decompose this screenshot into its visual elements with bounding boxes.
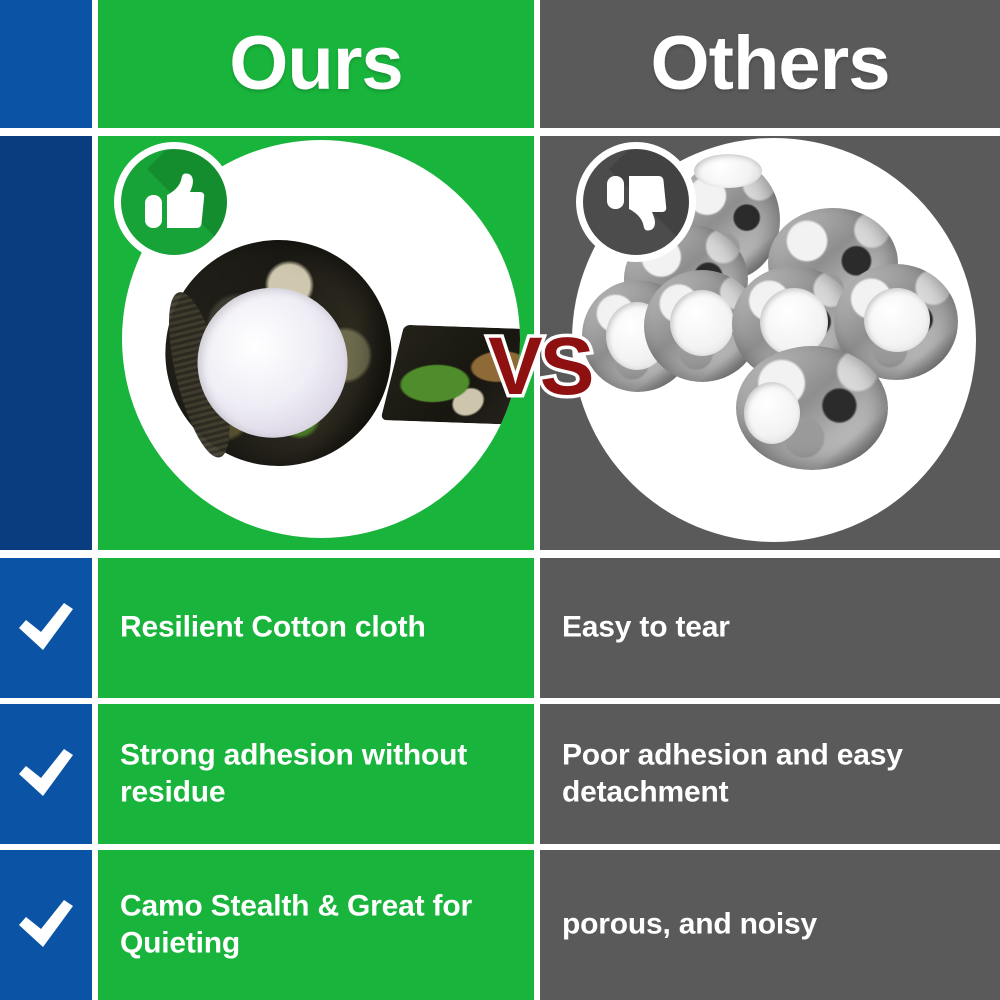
header-corner-blue-block — [0, 0, 92, 128]
feature-cell-others-1: Easy to tear — [540, 558, 1000, 698]
comparison-infographic: Ours Others — [0, 0, 1000, 1000]
check-icon-wrap — [0, 704, 92, 844]
feature-text-ours-2: Strong adhesion without residue — [120, 737, 516, 810]
roll-hole — [744, 382, 800, 444]
feature-cell-ours-2: Strong adhesion without residue — [98, 704, 534, 844]
check-icon-wrap — [0, 850, 92, 1000]
photo-cell-ours — [98, 136, 534, 550]
roll-hole — [864, 288, 930, 352]
thumbs-down-badge — [576, 142, 696, 262]
feature-cell-ours-3: Camo Stealth & Great for Quieting — [98, 850, 534, 1000]
thumbs-down-icon — [605, 173, 667, 231]
header-cell-others: Others — [540, 0, 1000, 128]
thumbs-up-icon — [143, 173, 205, 231]
feature-text-others-2: Poor adhesion and easy detachment — [562, 737, 982, 810]
photo-row-blue-block — [0, 136, 92, 550]
check-cell-row-2 — [0, 704, 92, 844]
check-icon — [16, 747, 76, 801]
feature-cell-ours-1: Resilient Cotton cloth — [98, 558, 534, 698]
header-cell-ours: Ours — [98, 0, 534, 128]
ours-title: Ours — [98, 0, 534, 128]
feature-text-ours-3: Camo Stealth & Great for Quieting — [120, 888, 516, 961]
feature-text-others-3: porous, and noisy — [562, 907, 982, 944]
check-cell-row-3 — [0, 850, 92, 1000]
feature-cell-others-2: Poor adhesion and easy detachment — [540, 704, 1000, 844]
bandage-roll-front — [736, 346, 888, 470]
check-icon — [16, 898, 76, 952]
thumbs-up-badge — [114, 142, 234, 262]
check-cell-row-1 — [0, 558, 92, 698]
roll-hole — [670, 290, 734, 356]
photo-cell-others — [540, 136, 1000, 550]
roll-hole — [694, 154, 762, 188]
vs-label: VS — [488, 326, 591, 408]
others-title: Others — [540, 0, 1000, 128]
feature-cell-others-3: porous, and noisy — [540, 850, 1000, 1000]
feature-text-others-1: Easy to tear — [562, 610, 982, 647]
feature-text-ours-1: Resilient Cotton cloth — [120, 610, 516, 647]
check-icon-wrap — [0, 558, 92, 698]
check-icon — [16, 601, 76, 655]
